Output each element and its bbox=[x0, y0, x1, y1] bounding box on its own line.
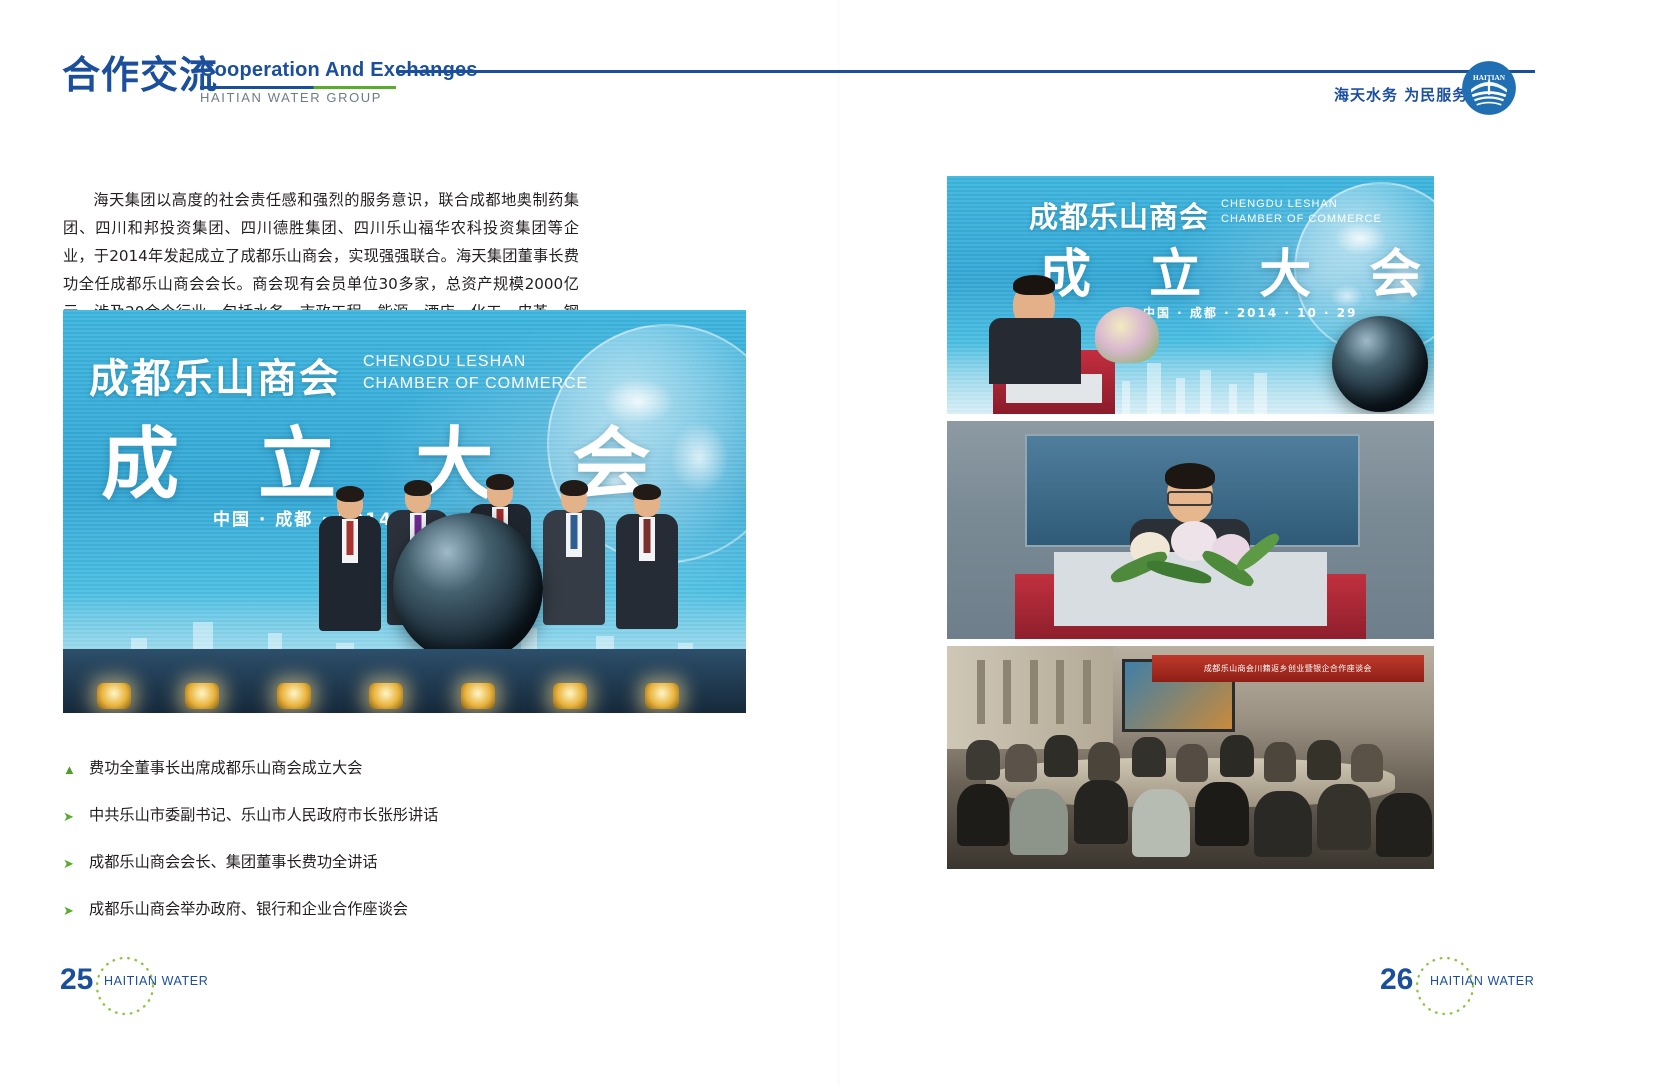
list-item: ➤ 成都乐山商会会长、集团董事长费功全讲话 bbox=[63, 846, 683, 880]
caption-text: 成都乐山商会会长、集团董事长费功全讲话 bbox=[89, 855, 378, 870]
banner-title-en-line2: CHAMBER OF COMMERCE bbox=[363, 374, 588, 394]
svg-text:HAITIAN: HAITIAN bbox=[1473, 74, 1506, 82]
page-number: 26 bbox=[1380, 965, 1413, 995]
caption-list: ▲ 费功全董事长出席成都乐山商会成立大会 ➤ 中共乐山市委副书记、乐山市人民政府… bbox=[63, 752, 683, 940]
stage-floor bbox=[63, 649, 746, 713]
header-divider-line bbox=[396, 70, 1535, 73]
list-item: ➤ 成都乐山商会举办政府、银行和企业合作座谈会 bbox=[63, 893, 683, 927]
person bbox=[538, 483, 610, 649]
caption-text: 费功全董事长出席成都乐山商会成立大会 bbox=[89, 761, 362, 776]
photo-symposium: 成都乐山商会川籍返乡创业暨银企合作座谈会 bbox=[947, 646, 1434, 869]
header-title-cn: 合作交流 bbox=[62, 56, 218, 94]
spotlight bbox=[185, 683, 219, 709]
arrow-right-icon: ➤ bbox=[63, 810, 89, 823]
flower-arrangement bbox=[1093, 508, 1298, 600]
symposium-banner: 成都乐山商会川籍返乡创业暨银企合作座谈会 bbox=[1152, 655, 1425, 682]
spotlight bbox=[369, 683, 403, 709]
arrow-up-icon: ▲ bbox=[63, 763, 89, 776]
list-item: ➤ 中共乐山市委副书记、乐山市人民政府市长张彤讲话 bbox=[63, 799, 683, 833]
footer-right: 26 HAITIAN WATER bbox=[1380, 965, 1677, 1009]
side-wall bbox=[947, 646, 1113, 749]
page-number: 25 bbox=[60, 965, 93, 995]
speaker-hair bbox=[1165, 463, 1215, 489]
arrow-right-icon: ➤ bbox=[63, 904, 89, 917]
dark-orb bbox=[1332, 316, 1428, 412]
banner-title-en-line1: CHENGDU LESHAN bbox=[363, 352, 526, 372]
list-item: ▲ 费功全董事长出席成都乐山商会成立大会 bbox=[63, 752, 683, 786]
banner-date: 中国 · 成都 · 2014 · 10 · 29 bbox=[1143, 304, 1357, 321]
flower-arrangement bbox=[1095, 307, 1159, 363]
caption-text: 成都乐山商会举办政府、银行和企业合作座谈会 bbox=[89, 902, 408, 917]
caption-text: 中共乐山市委副书记、乐山市人民政府市长张彤讲话 bbox=[89, 808, 438, 823]
spotlight bbox=[553, 683, 587, 709]
person bbox=[611, 487, 683, 649]
spotlight bbox=[97, 683, 131, 709]
footer-left: 25 HAITIAN WATER bbox=[60, 965, 360, 1009]
header-slogan: 海天水务 为民服务 bbox=[1334, 84, 1468, 105]
brochure-spread: 合作交流 Cooperation And Exchanges HAITIAN W… bbox=[0, 0, 1677, 1086]
speaker-body bbox=[989, 318, 1081, 384]
speaker-hair bbox=[1013, 275, 1055, 295]
header-rule bbox=[200, 86, 396, 89]
photo-ceremony-banner: 成都乐山商会 CHENGDU LESHAN CHAMBER OF COMMERC… bbox=[947, 176, 1434, 414]
glasses-icon bbox=[1167, 491, 1213, 506]
spotlight bbox=[645, 683, 679, 709]
footer-brand: HAITIAN WATER bbox=[104, 974, 208, 988]
photo-founding-ceremony: 成都乐山商会 CHENGDU LESHAN CHAMBER OF COMMERC… bbox=[63, 310, 746, 713]
spotlight bbox=[277, 683, 311, 709]
spotlight bbox=[461, 683, 495, 709]
banner-title-en-line1: CHENGDU LESHAN bbox=[1221, 198, 1338, 212]
speaker-at-podium bbox=[976, 281, 1142, 414]
footer-brand: HAITIAN WATER bbox=[1430, 974, 1534, 988]
page-gutter bbox=[838, 0, 840, 1086]
banner-title-cn: 成都乐山商会 bbox=[1029, 194, 1209, 236]
header-subtitle: HAITIAN WATER GROUP bbox=[200, 91, 382, 104]
photo-chairman-speech bbox=[947, 421, 1434, 639]
arrow-right-icon: ➤ bbox=[63, 857, 89, 870]
symposium-banner-text: 成都乐山商会川籍返乡创业暨银企合作座谈会 bbox=[1204, 663, 1372, 674]
banner-title-cn: 成都乐山商会 bbox=[89, 346, 341, 404]
person bbox=[315, 489, 385, 649]
banner-title-en-line2: CHAMBER OF COMMERCE bbox=[1221, 213, 1382, 227]
launch-orb bbox=[393, 513, 543, 663]
haitian-logo-icon: HAITIAN bbox=[1461, 60, 1517, 116]
